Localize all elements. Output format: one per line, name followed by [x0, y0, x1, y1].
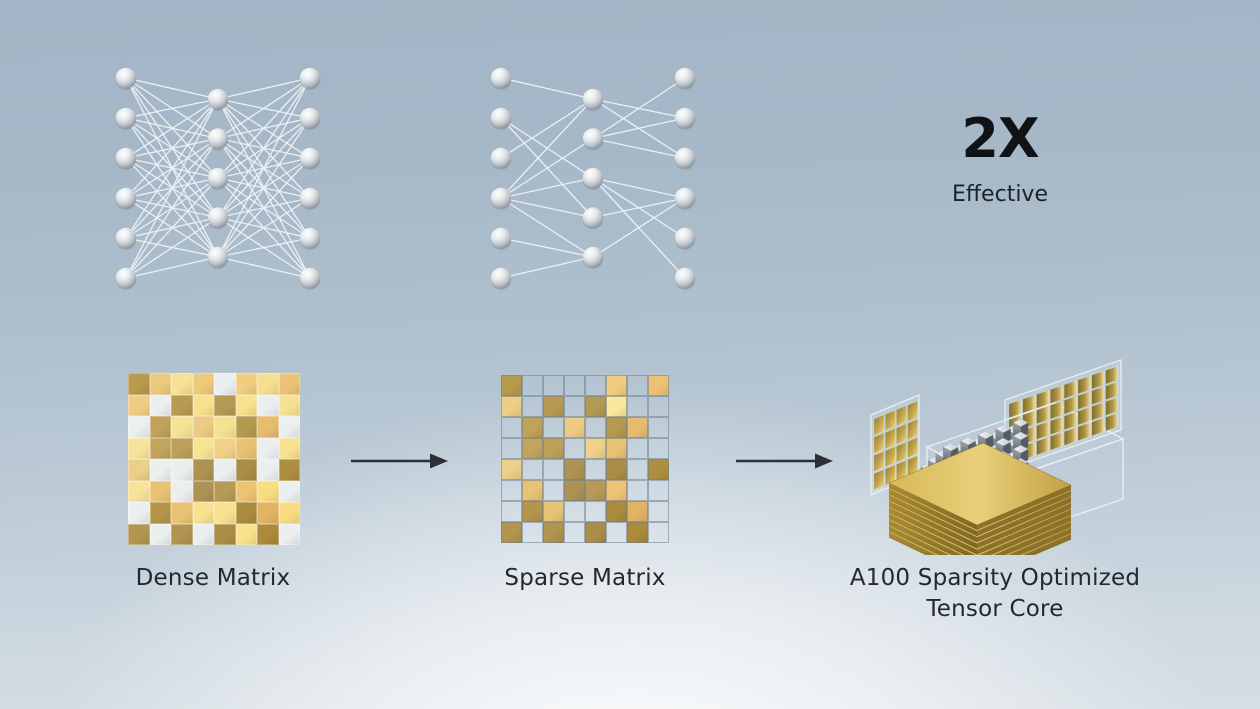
network-node: [300, 148, 320, 168]
matrix-cell: [564, 501, 585, 522]
matrix-cell: [501, 438, 522, 459]
network-edge: [501, 178, 593, 198]
matrix-cell: [564, 480, 585, 501]
network-node: [675, 188, 695, 208]
matrix-cell: [128, 416, 150, 438]
network-edge: [218, 257, 310, 278]
network-node: [583, 247, 603, 267]
matrix-cell: [236, 395, 258, 417]
arrow-sparse-to-tensor-icon: [735, 448, 835, 474]
matrix-cell: [193, 481, 215, 503]
matrix-cell: [257, 502, 279, 524]
matrix-cell: [501, 522, 522, 543]
matrix-cell: [522, 375, 543, 396]
network-node: [491, 188, 511, 208]
matrix-cell: [279, 524, 301, 546]
matrix-cell: [648, 459, 669, 480]
matrix-cell: [128, 481, 150, 503]
matrix-cell: [606, 459, 627, 480]
network-node: [116, 148, 136, 168]
matrix-cell: [627, 459, 648, 480]
network-node: [116, 188, 136, 208]
matrix-cell: [585, 375, 606, 396]
matrix-cell: [543, 396, 564, 417]
network-node: [675, 228, 695, 248]
matrix-cell: [128, 395, 150, 417]
network-edge: [593, 198, 685, 257]
matrix-cell: [627, 522, 648, 543]
matrix-cell: [257, 481, 279, 503]
matrix-cell: [257, 438, 279, 460]
matrix-cell: [585, 396, 606, 417]
matrix-cell: [214, 416, 236, 438]
network-node: [208, 207, 228, 227]
matrix-cell: [564, 396, 585, 417]
matrix-cell: [128, 373, 150, 395]
network-node: [116, 68, 136, 88]
matrix-cell: [214, 481, 236, 503]
network-edge: [593, 139, 685, 159]
network-node: [116, 268, 136, 288]
matrix-cell: [522, 417, 543, 438]
matrix-cell: [236, 438, 258, 460]
network-node: [491, 68, 511, 88]
slide-canvas: 2X Effective: [0, 0, 1260, 709]
matrix-cell: [606, 501, 627, 522]
network-edge: [501, 198, 593, 218]
tensor-core-svg: [855, 355, 1135, 555]
matrix-cell: [585, 501, 606, 522]
matrix-cell: [193, 438, 215, 460]
matrix-cell: [564, 438, 585, 459]
matrix-cell: [543, 417, 564, 438]
matrix-cell: [501, 480, 522, 501]
matrix-cell: [150, 416, 172, 438]
matrix-cell: [128, 438, 150, 460]
matrix-cell: [564, 522, 585, 543]
matrix-cell: [585, 522, 606, 543]
matrix-cell: [606, 480, 627, 501]
matrix-cell: [501, 375, 522, 396]
speedup-multiplier: 2X: [900, 112, 1100, 166]
matrix-cell: [171, 459, 193, 481]
matrix-cell: [279, 502, 301, 524]
matrix-cell: [171, 481, 193, 503]
matrix-cell: [257, 395, 279, 417]
matrix-cell: [214, 373, 236, 395]
network-node: [491, 268, 511, 288]
matrix-cell: [171, 438, 193, 460]
matrix-cell: [171, 373, 193, 395]
matrix-cell: [214, 502, 236, 524]
matrix-cell: [193, 416, 215, 438]
matrix-cell: [193, 524, 215, 546]
matrix-cell: [585, 480, 606, 501]
matrix-cell: [257, 373, 279, 395]
matrix-cell: [606, 522, 627, 543]
matrix-cell: [585, 417, 606, 438]
matrix-cell: [279, 373, 301, 395]
sparse-matrix-label: Sparse Matrix: [460, 565, 710, 591]
matrix-cell: [150, 459, 172, 481]
matrix-cell: [171, 502, 193, 524]
network-node: [208, 168, 228, 188]
matrix-cell: [564, 459, 585, 480]
dense-matrix: [128, 373, 300, 545]
matrix-cell: [214, 438, 236, 460]
matrix-cell: [214, 395, 236, 417]
network-node: [583, 128, 603, 148]
matrix-cell: [648, 396, 669, 417]
tensor-core-label: A100 Sparsity Optimized Tensor Core: [830, 563, 1160, 625]
network-node: [116, 228, 136, 248]
network-node: [300, 228, 320, 248]
network-node: [675, 148, 695, 168]
sparse-network-svg: [493, 78, 693, 288]
dense-network: [118, 78, 318, 288]
arrow-dense-to-sparse: [350, 448, 450, 478]
a100-tensor-core-illustration: [855, 355, 1135, 555]
network-node: [583, 89, 603, 109]
dense-network-svg: [118, 78, 318, 288]
matrix-cell: [627, 417, 648, 438]
matrix-cell: [543, 522, 564, 543]
matrix-cell: [606, 396, 627, 417]
network-node: [675, 108, 695, 128]
sparse-network: [493, 78, 693, 288]
matrix-cell: [150, 524, 172, 546]
matrix-cell: [522, 522, 543, 543]
matrix-cell: [522, 459, 543, 480]
network-edge: [501, 257, 593, 278]
matrix-cell: [606, 417, 627, 438]
matrix-cell: [257, 524, 279, 546]
network-edge: [593, 118, 685, 139]
matrix-cell: [214, 524, 236, 546]
network-node: [300, 108, 320, 128]
matrix-cell: [128, 524, 150, 546]
matrix-cell: [543, 375, 564, 396]
network-edge: [501, 78, 593, 99]
network-node: [208, 128, 228, 148]
matrix-cell: [648, 438, 669, 459]
dense-matrix-label: Dense Matrix: [88, 565, 338, 591]
matrix-cell: [150, 438, 172, 460]
matrix-cell: [236, 502, 258, 524]
matrix-cell: [648, 417, 669, 438]
matrix-cell: [543, 480, 564, 501]
matrix-cell: [522, 501, 543, 522]
matrix-cell: [171, 395, 193, 417]
matrix-cell: [236, 416, 258, 438]
network-node: [583, 168, 603, 188]
network-edge: [218, 78, 310, 178]
matrix-cell: [648, 501, 669, 522]
matrix-cell: [193, 373, 215, 395]
matrix-cell: [648, 375, 669, 396]
matrix-cell: [648, 522, 669, 543]
matrix-cell: [648, 480, 669, 501]
matrix-cell: [543, 501, 564, 522]
matrix-cell: [585, 459, 606, 480]
matrix-cell: [236, 481, 258, 503]
network-node: [583, 207, 603, 227]
matrix-cell: [279, 438, 301, 460]
speedup-caption: Effective: [900, 182, 1100, 207]
matrix-cell: [193, 502, 215, 524]
matrix-cell: [627, 396, 648, 417]
matrix-cell: [257, 416, 279, 438]
matrix-cell: [128, 459, 150, 481]
matrix-cell: [236, 459, 258, 481]
network-edge: [126, 78, 218, 99]
matrix-cell: [543, 438, 564, 459]
network-node: [300, 188, 320, 208]
matrix-cell: [279, 395, 301, 417]
matrix-cell: [606, 375, 627, 396]
network-node: [208, 89, 228, 109]
network-node: [675, 268, 695, 288]
network-node: [300, 268, 320, 288]
matrix-cell: [150, 502, 172, 524]
network-node: [491, 108, 511, 128]
network-edge: [126, 257, 218, 278]
matrix-cell: [606, 438, 627, 459]
arrow-dense-to-sparse-icon: [350, 448, 450, 474]
matrix-cell: [627, 438, 648, 459]
network-edge: [593, 198, 685, 218]
sparse-matrix: [501, 375, 669, 543]
network-edge: [593, 178, 685, 198]
matrix-cell: [150, 481, 172, 503]
matrix-cell: [279, 481, 301, 503]
network-node: [116, 108, 136, 128]
tensor-core-label-line2: Tensor Core: [830, 594, 1160, 625]
matrix-cell: [150, 395, 172, 417]
arrow-sparse-to-tensor: [735, 448, 835, 478]
matrix-cell: [279, 459, 301, 481]
network-edge: [218, 78, 310, 99]
matrix-cell: [564, 375, 585, 396]
matrix-cell: [585, 438, 606, 459]
matrix-cell: [279, 416, 301, 438]
network-node: [300, 68, 320, 88]
matrix-cell: [501, 501, 522, 522]
matrix-cell: [236, 524, 258, 546]
tensor-core-label-line1: A100 Sparsity Optimized: [830, 563, 1160, 594]
matrix-cell: [150, 373, 172, 395]
matrix-cell: [236, 373, 258, 395]
matrix-cell: [193, 395, 215, 417]
effective-speedup-callout: 2X Effective: [900, 112, 1100, 207]
matrix-cell: [564, 417, 585, 438]
matrix-cell: [627, 501, 648, 522]
matrix-cell: [543, 459, 564, 480]
matrix-cell: [257, 459, 279, 481]
matrix-cell: [501, 417, 522, 438]
network-node: [675, 68, 695, 88]
matrix-cell: [522, 396, 543, 417]
matrix-cell: [627, 375, 648, 396]
matrix-cell: [214, 459, 236, 481]
matrix-cell: [193, 459, 215, 481]
matrix-cell: [522, 480, 543, 501]
network-edge: [126, 178, 218, 278]
matrix-cell: [171, 524, 193, 546]
matrix-cell: [128, 502, 150, 524]
matrix-cell: [501, 396, 522, 417]
network-node: [491, 148, 511, 168]
network-node: [491, 228, 511, 248]
matrix-cell: [171, 416, 193, 438]
matrix-cell: [522, 438, 543, 459]
network-node: [208, 247, 228, 267]
matrix-cell: [627, 480, 648, 501]
matrix-cell: [501, 459, 522, 480]
